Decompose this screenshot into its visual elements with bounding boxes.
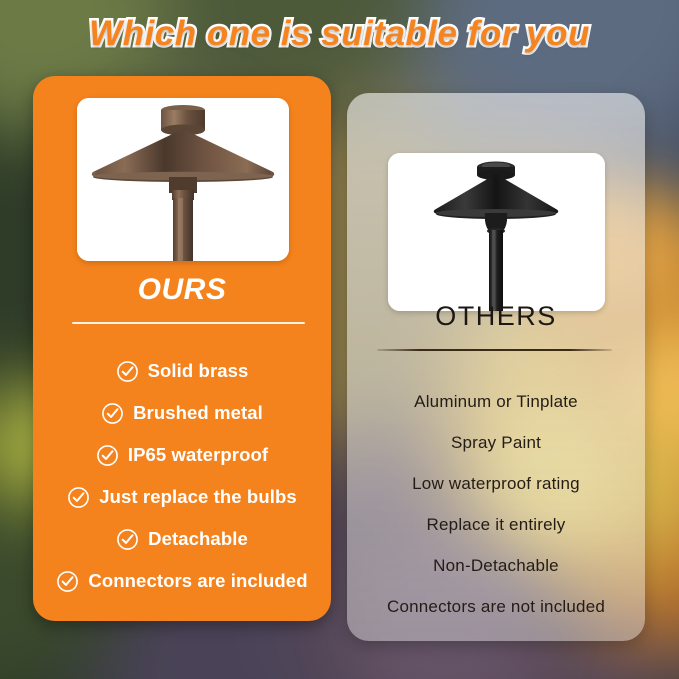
list-item: Brushed metal: [33, 392, 331, 434]
list-item: Just replace the bulbs: [33, 476, 331, 518]
ours-feature-label: Solid brass: [148, 360, 249, 382]
ours-feature-list: Solid brass Brushed metal IP65 waterproo…: [33, 350, 331, 602]
circle-check-icon: [56, 570, 79, 593]
circle-check-icon: [101, 402, 124, 425]
ours-card: OURS Solid brass Brushed metal: [33, 76, 331, 621]
ours-divider: [72, 322, 305, 324]
ours-feature-label: Detachable: [148, 528, 248, 550]
list-item: Connectors are not included: [347, 586, 645, 627]
others-feature-label: Low waterproof rating: [412, 474, 580, 494]
others-product-image: [388, 153, 605, 311]
circle-check-icon: [116, 528, 139, 551]
circle-check-icon: [67, 486, 90, 509]
brass-path-light-icon: [77, 98, 289, 261]
list-item: Detachable: [33, 518, 331, 560]
others-card: OTHERS Aluminum or Tinplate Spray Paint …: [347, 93, 645, 641]
others-feature-label: Aluminum or Tinplate: [414, 392, 578, 412]
page-title: Which one is suitable for you: [0, 14, 679, 54]
list-item: Replace it entirely: [347, 504, 645, 545]
circle-check-icon: [116, 360, 139, 383]
ours-feature-label: Just replace the bulbs: [99, 486, 297, 508]
others-feature-label: Spray Paint: [451, 433, 541, 453]
list-item: Solid brass: [33, 350, 331, 392]
ours-feature-label: Brushed metal: [133, 402, 263, 424]
list-item: Non-Detachable: [347, 545, 645, 586]
circle-check-icon: [96, 444, 119, 467]
others-divider: [377, 349, 612, 351]
list-item: Spray Paint: [347, 422, 645, 463]
comparison-graphic: Which one is suitable for you: [0, 0, 679, 679]
black-path-light-icon: [388, 153, 605, 311]
list-item: IP65 waterproof: [33, 434, 331, 476]
ours-feature-label: Connectors are included: [88, 570, 307, 592]
ours-product-image: [77, 98, 289, 261]
ours-feature-label: IP65 waterproof: [128, 444, 268, 466]
list-item: Low waterproof rating: [347, 463, 645, 504]
list-item: Aluminum or Tinplate: [347, 381, 645, 422]
others-heading: OTHERS: [347, 301, 645, 332]
others-feature-label: Connectors are not included: [387, 597, 605, 617]
others-feature-label: Non-Detachable: [433, 556, 559, 576]
others-feature-label: Replace it entirely: [427, 515, 566, 535]
ours-heading: OURS: [33, 273, 331, 307]
list-item: Connectors are included: [33, 560, 331, 602]
others-feature-list: Aluminum or Tinplate Spray Paint Low wat…: [347, 381, 645, 627]
